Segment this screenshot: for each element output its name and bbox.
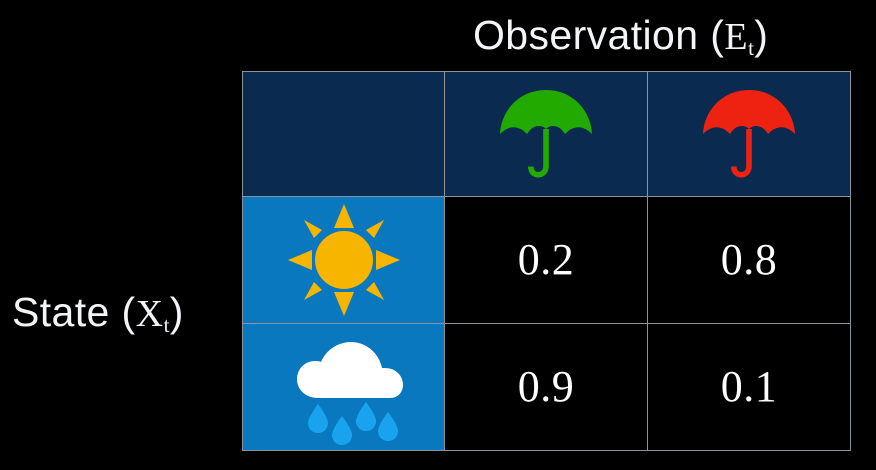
observation-variable-subscript: t [748,36,754,60]
header-cell-umbrella-green [445,72,648,197]
probability-value: 0.9 [518,362,575,411]
table-row: 0.2 0.8 [243,197,851,324]
sun-icon [243,197,444,323]
row-header-cell-rainy [243,324,445,451]
observation-open-paren: ( [698,12,724,58]
row-header-cell-sunny [243,197,445,324]
probability-value: 0.1 [721,362,778,411]
observation-label-text: Observation [473,12,698,58]
state-label-text: State [12,289,110,335]
state-variable-letter: X [136,293,164,335]
rain-cloud-icon [243,324,444,450]
table-header-row [243,72,851,197]
header-cell-umbrella-red [648,72,851,197]
observation-axis-label: Observation (Et) [473,15,768,56]
probability-cell: 0.8 [648,197,851,324]
observation-variable-letter: E [724,16,748,58]
observation-close-paren: ) [754,12,768,58]
state-open-paren: ( [110,289,136,335]
table-corner-cell [243,72,445,197]
state-variable: Xt [136,293,170,335]
probability-value: 0.2 [518,235,575,284]
emission-probability-table: 0.2 0.8 [242,71,851,451]
probability-cell: 0.9 [445,324,648,451]
probability-cell: 0.1 [648,324,851,451]
umbrella-green-icon [445,72,647,196]
probability-value: 0.8 [721,235,778,284]
state-axis-label: State (Xt) [12,292,184,333]
umbrella-red-icon [648,72,850,196]
state-close-paren: ) [170,289,184,335]
observation-variable: Et [724,16,754,58]
state-variable-subscript: t [164,313,170,337]
table-row: 0.9 0.1 [243,324,851,451]
probability-cell: 0.2 [445,197,648,324]
